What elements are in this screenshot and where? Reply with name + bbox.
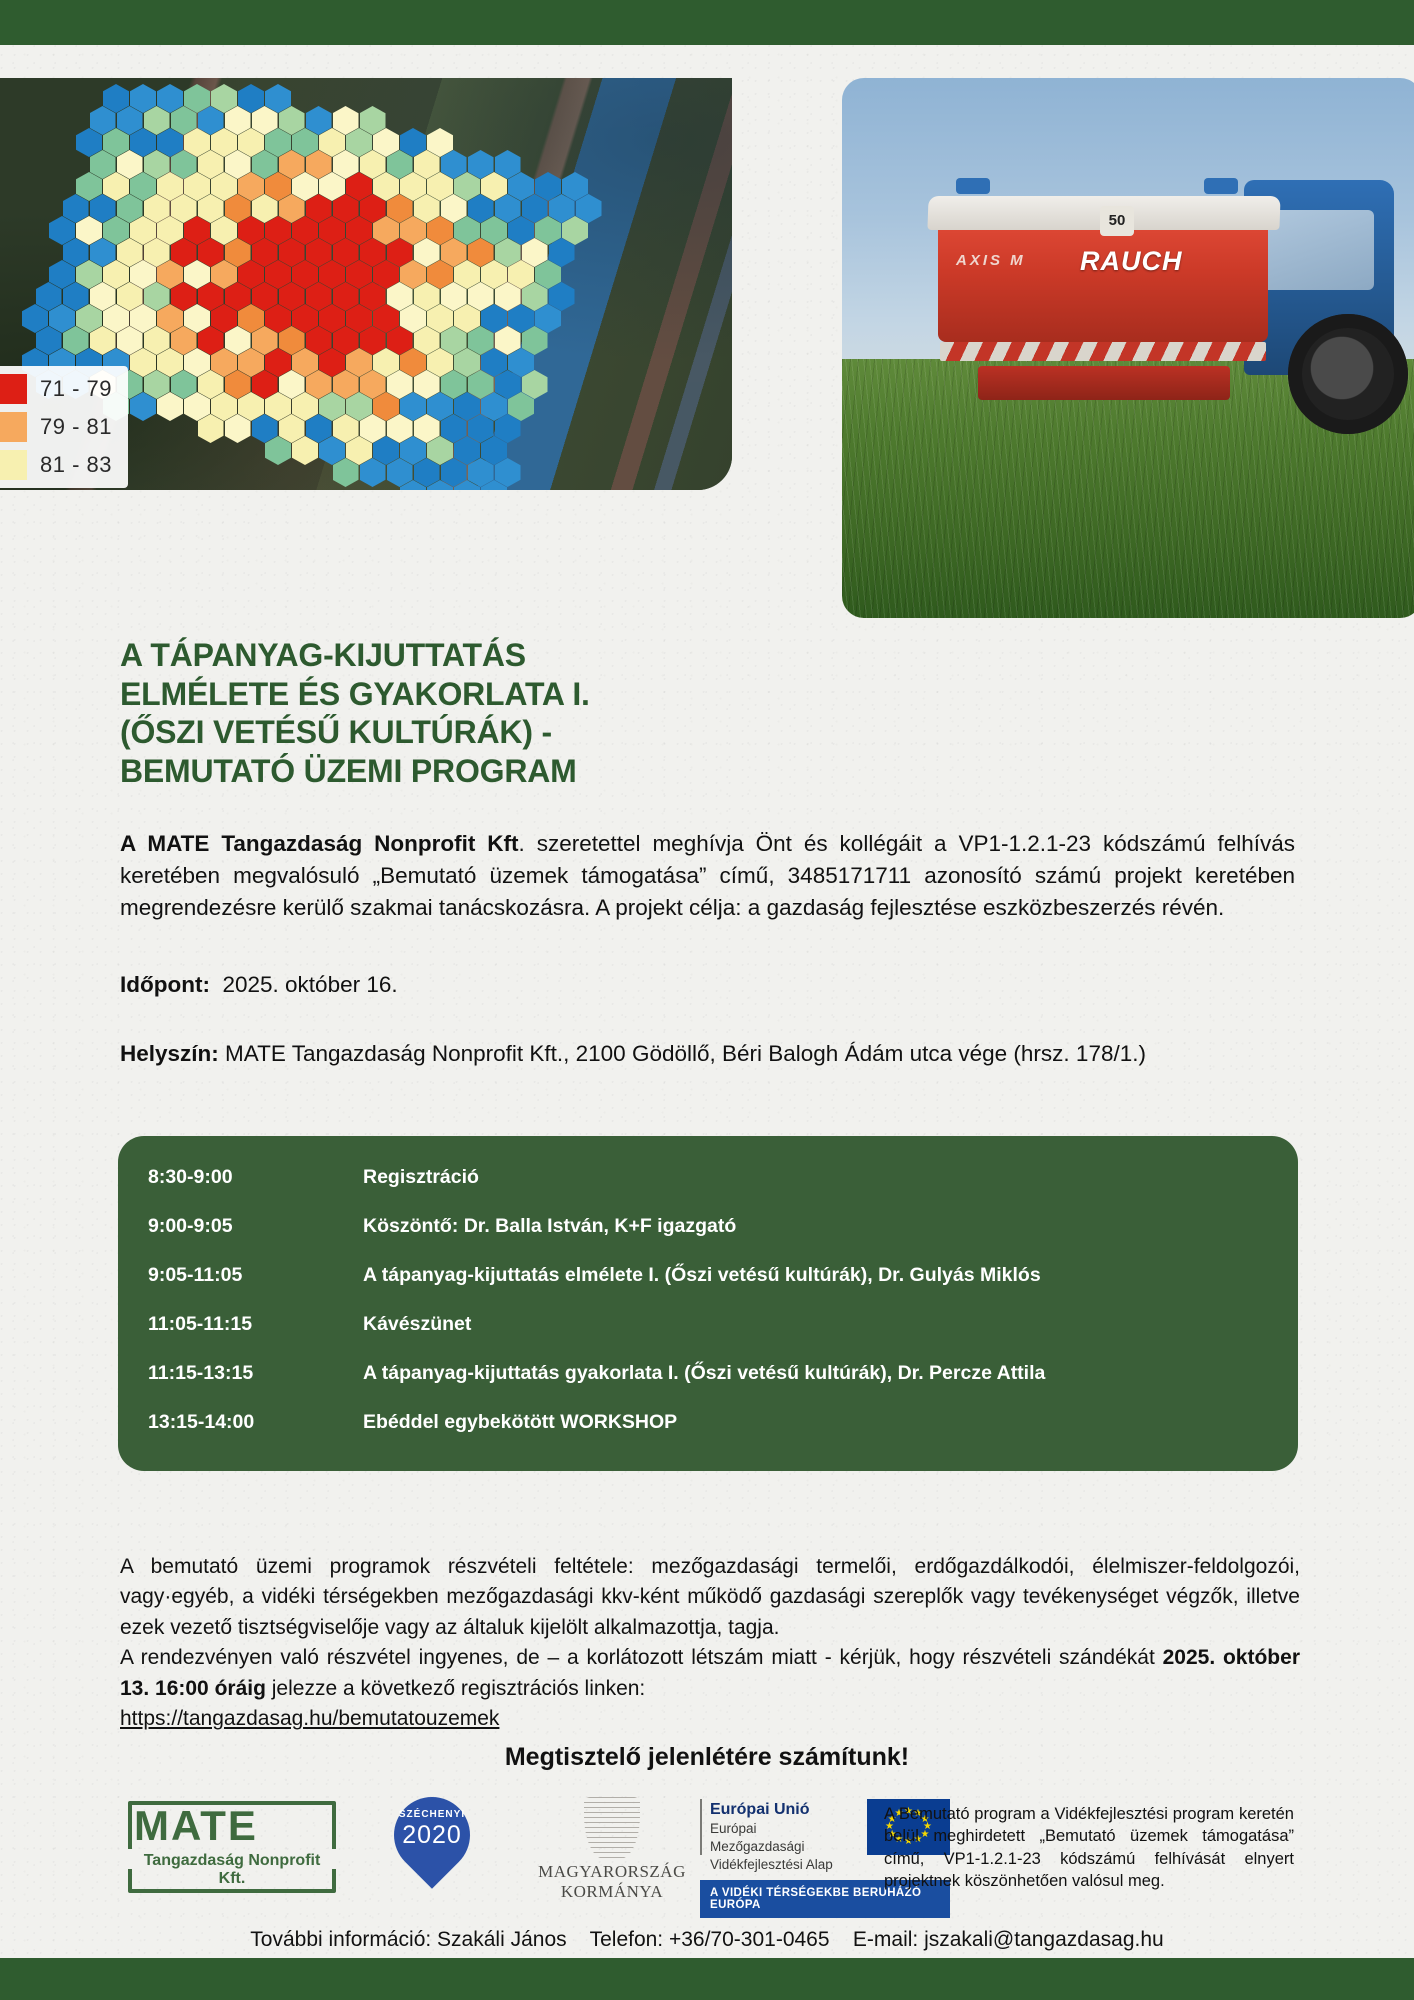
warning-stripe [940,342,1266,361]
schedule-time: 13:15-14:00 [148,1411,363,1434]
mate-logo-wordmark: MATE [134,1803,330,1849]
top-green-bar [0,0,1414,45]
szechenyi-year: 2020 [388,1821,476,1850]
page-title: A TÁPANYAG-KIJUTTATÁS ELMÉLETE ÉS GYAKOR… [120,636,680,791]
eu-line-3: Vidékfejlesztési Alap [710,1856,853,1874]
schedule-row: 8:30-9:00Regisztráció [118,1166,1298,1215]
mate-logo: MATE Tangazdaság Nonprofit Kft. [128,1801,336,1893]
footer-contact: További információ: Szakáli János Telefo… [0,1928,1414,1952]
spreader-model-text: AXIS M [956,252,1026,269]
beacon-light-left [956,178,990,194]
legend-item: 71 - 79 [0,371,112,407]
schedule-row: 11:05-11:15Kávészünet [118,1313,1298,1362]
schedule-row: 11:15-13:15A tápanyag-kijuttatás gyakorl… [118,1362,1298,1411]
parliament-crest-icon [584,1797,640,1859]
gov-line-2: KORMÁNYA [532,1882,692,1902]
schedule-box: 8:30-9:00Regisztráció9:00-9:05Köszöntő: … [118,1136,1298,1471]
contact-email: E-mail: jszakali@tangazdasag.hu [853,1928,1164,1951]
event-place: Helyszín: MATE Tangazdaság Nonprofit Kft… [120,1038,1295,1070]
gov-logo-text: MAGYARORSZÁG KORMÁNYA [532,1862,692,1903]
funding-note: A Bemutató program a Vidékfejlesztési pr… [884,1803,1294,1892]
schedule-time: 11:15-13:15 [148,1362,363,1385]
schedule-row: 9:05-11:05A tápanyag-kijuttatás elmélete… [118,1264,1298,1313]
eu-divider [700,1799,702,1855]
event-time-value: 2025. október 16. [222,972,397,997]
tractor-wheel [1288,314,1408,434]
tractor-graphic: 50 AXIS M RAUCH [904,174,1404,434]
tractor-spreader-photo: 50 AXIS M RAUCH [842,78,1414,618]
szechenyi-2020-logo: SZÉCHENYI 2020 [388,1795,476,1903]
legend-item: 81 - 83 [0,447,112,483]
hungarian-government-logo: MAGYARORSZÁG KORMÁNYA [532,1797,692,1901]
schedule-row: 9:00-9:05Köszöntő: Dr. Balla István, K+F… [118,1215,1298,1264]
eu-line-1: Európai Unió [710,1799,853,1820]
schedule-description: A tápanyag-kijuttatás elmélete I. (Őszi … [363,1264,1041,1287]
schedule-time: 8:30-9:00 [148,1166,363,1189]
eu-line-2: Európai Mezőgazdasági [710,1820,853,1856]
organizer-name: A MATE Tangazdaság Nonprofit Kft [120,831,519,856]
event-time: Időpont: 2025. október 16. [120,972,398,998]
map-legend: 71 - 79 79 - 81 81 - 83 [0,366,128,488]
beacon-light-right [1204,178,1238,194]
title-line-2: ELMÉLETE ÉS GYAKORLATA I. [120,676,590,712]
legend-label: 81 - 83 [40,452,112,478]
schedule-description: Köszöntő: Dr. Balla István, K+F igazgató [363,1215,736,1238]
registration-text-a: A rendezvényen való részvétel ingyenes, … [120,1646,1163,1669]
event-place-label: Helyszín: [120,1041,219,1066]
participation-conditions: A bemutató üzemi programok részvételi fe… [120,1552,1300,1735]
szechenyi-logo-text: SZÉCHENYI 2020 [388,1809,476,1850]
schedule-time: 9:00-9:05 [148,1215,363,1238]
schedule-description: Kávészünet [363,1313,471,1336]
intro-paragraph: A MATE Tangazdaság Nonprofit Kft. szeret… [120,828,1295,924]
legend-label: 79 - 81 [40,414,112,440]
bottom-green-bar [0,1958,1414,2000]
schedule-time: 9:05-11:05 [148,1264,363,1287]
eu-logo-text: Európai Unió Európai Mezőgazdasági Vidék… [710,1799,853,1874]
event-time-label: Időpont: [120,972,210,997]
spreader-frame [978,366,1230,400]
speed-plate: 50 [1100,206,1134,236]
contact-phone: Telefon: +36/70-301-0465 [590,1928,830,1951]
legend-item: 79 - 81 [0,409,112,445]
registration-link[interactable]: https://tangazdasag.hu/bemutatouzemek [120,1704,499,1734]
event-place-value: MATE Tangazdaság Nonprofit Kft., 2100 Gö… [225,1041,1146,1066]
hero-section: 71 - 79 79 - 81 81 - 83 50 AXIS [0,78,1414,623]
yield-map-image: 71 - 79 79 - 81 81 - 83 [0,78,732,490]
contact-person: További információ: Szakáli János [250,1928,566,1951]
conditions-paragraph-1: A bemutató üzemi programok részvételi fe… [120,1552,1300,1643]
title-line-4: BEMUTATÓ ÜZEMI PROGRAM [120,753,577,789]
schedule-description: Regisztráció [363,1166,479,1189]
legend-swatch-red [0,374,27,404]
gov-line-1: MAGYARORSZÁG [532,1862,692,1882]
mate-logo-subtitle: Tangazdaság Nonprofit Kft. [134,1852,330,1888]
title-line-1: A TÁPANYAG-KIJUTTATÁS [120,637,526,673]
closing-line: Megtisztelő jelenlétére számítunk! [0,1743,1414,1772]
title-line-3: (ŐSZI VETÉSŰ KULTÚRÁK) - [120,714,552,750]
schedule-time: 11:05-11:15 [148,1313,363,1336]
registration-text-b: jelezze a következő regisztrációs linken… [266,1677,645,1700]
spreader-brand-text: RAUCH [1080,246,1183,277]
conditions-paragraph-2: A rendezvényen való részvétel ingyenes, … [120,1643,1300,1704]
schedule-description: Ebéddel egybekötött WORKSHOP [363,1411,677,1434]
legend-label: 71 - 79 [40,376,112,402]
szechenyi-label: SZÉCHENYI [388,1809,476,1820]
legend-swatch-yellow [0,450,27,480]
schedule-row: 13:15-14:00Ebéddel egybekötött WORKSHOP [118,1411,1298,1460]
legend-swatch-orange [0,412,27,442]
schedule-description: A tápanyag-kijuttatás gyakorlata I. (Ősz… [363,1362,1045,1385]
